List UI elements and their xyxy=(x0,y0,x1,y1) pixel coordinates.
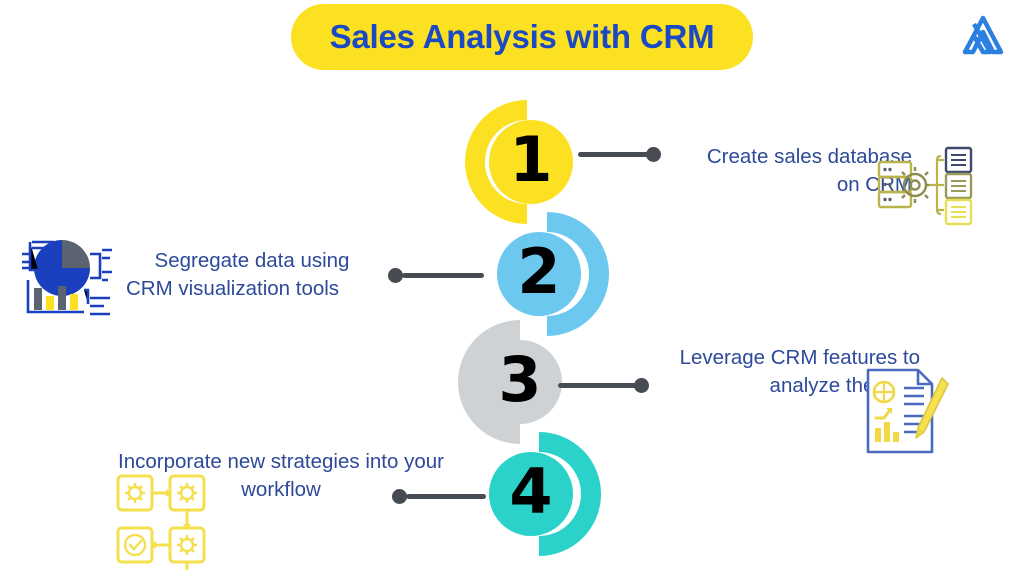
step-1-caption-line-1: Create sales database xyxy=(640,143,912,171)
step-4-circle[interactable]: 4 xyxy=(489,452,573,536)
step-2-caption: Segregate data using CRM visualization t… xyxy=(126,247,378,302)
database-gear-documents-icon xyxy=(874,146,976,236)
step-1-caption-line-2: on CRM xyxy=(640,171,912,199)
step-1-circle[interactable]: 1 xyxy=(489,120,573,204)
step-2-caption-line-1: Segregate data using xyxy=(126,247,378,275)
step-3-circle[interactable]: 3 xyxy=(478,340,562,424)
connector-dot xyxy=(388,268,403,283)
pie-bar-chart-analytics-icon xyxy=(14,228,114,320)
step-3-number: 3 xyxy=(498,349,541,411)
step-4-number: 4 xyxy=(509,461,552,523)
step-1-caption: Create sales database on CRM xyxy=(640,143,912,198)
workflow-gears-diagram-icon xyxy=(110,470,214,570)
step-2-number: 2 xyxy=(517,241,560,303)
document-pencil-report-icon xyxy=(862,366,950,458)
step-2-circle[interactable]: 2 xyxy=(497,232,581,316)
step-2-caption-line-2: CRM visualization tools xyxy=(126,275,378,303)
step-1-number: 1 xyxy=(509,129,552,191)
step-2-connector xyxy=(388,264,488,286)
connector-line xyxy=(402,273,484,278)
